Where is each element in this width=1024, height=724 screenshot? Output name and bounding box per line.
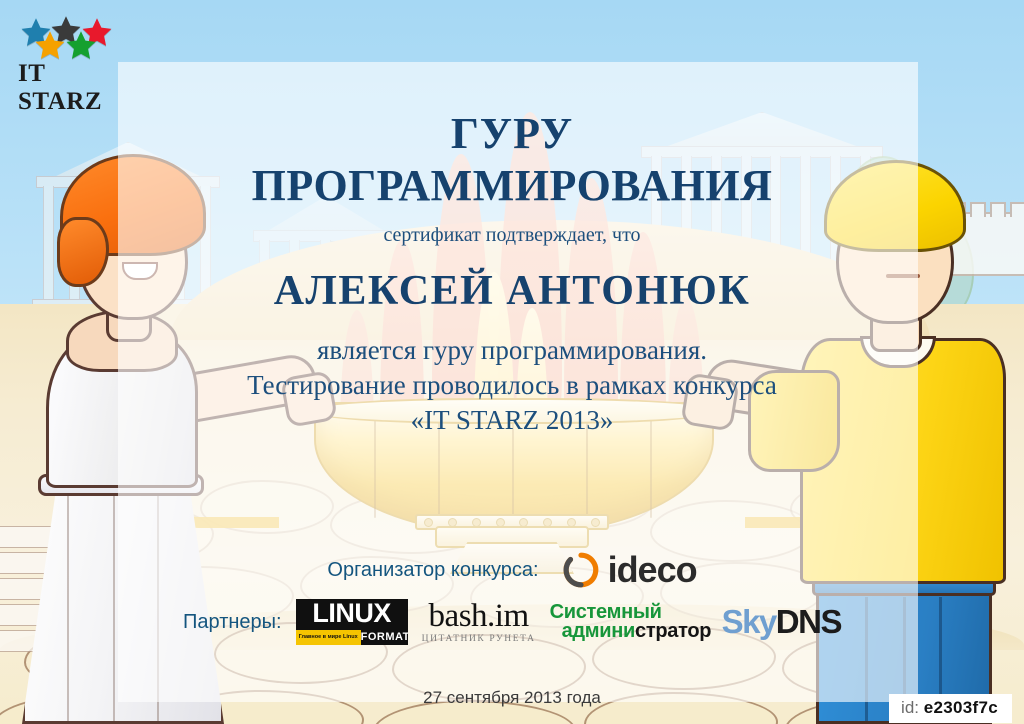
ideco-wordmark: ideco [608, 549, 697, 591]
partners-label: Партнеры: [183, 611, 282, 634]
recipient-name: АЛЕКСЕЙ АНТОНЮК [0, 267, 1024, 315]
body-line-2: Тестирование проводилось в рамках конкур… [0, 368, 1024, 403]
body-line-1: является гуру программирования. [0, 333, 1024, 368]
certificate-subtitle: сертификат подтверждает, что [0, 224, 1024, 247]
linux-format-line2: FORMAT [361, 630, 408, 645]
linux-format-line1: LINUX [296, 599, 408, 628]
certificate-title-line2: ПРОГРАММИРОВАНИЯ [0, 160, 1024, 211]
partner-logo-sysadmin[interactable]: Системный администратор [550, 601, 708, 643]
certificate-content: ГУРУ ПРОГРАММИРОВАНИЯ сертификат подтвер… [0, 0, 1024, 724]
partner-logo-linux-format[interactable]: LINUX Главное в мире Linux FORMAT [296, 599, 408, 645]
linux-format-strapline: Главное в мире Linux [296, 630, 361, 645]
certificate-id-badge: id: e2303f7c [889, 694, 1012, 723]
bash-im-line2: ЦИТАТНИК РУНЕТА [422, 635, 536, 645]
partner-logo-skydns[interactable]: SkyDNS [722, 603, 841, 641]
organizer-row: Организатор конкурса: ideco [0, 548, 1024, 592]
sysadmin-line2-dark: стратор [635, 620, 711, 642]
ideco-logo[interactable]: ideco [563, 549, 697, 591]
organizer-label: Организатор конкурса: [327, 559, 538, 582]
body-line-3: «IT STARZ 2013» [0, 403, 1024, 438]
skydns-part2: DNS [776, 603, 841, 640]
sysadmin-line2-green: админи [562, 620, 635, 642]
skydns-part1: Sky [722, 603, 776, 640]
id-value: e2303f7c [924, 698, 998, 717]
partners-row: Партнеры: LINUX Главное в мире Linux FOR… [0, 598, 1024, 646]
certificate-canvas: IT STARZ ГУРУ ПРОГРАММИРОВАНИЯ сертифика… [0, 0, 1024, 724]
partner-logo-bash-im[interactable]: bash.im ЦИТАТНИК РУНЕТА [422, 600, 536, 645]
certificate-body: является гуру программирования. Тестиров… [0, 333, 1024, 438]
bash-im-line1: bash.im [429, 600, 529, 633]
ideco-ring-icon [563, 552, 599, 588]
certificate-title-line1: ГУРУ [0, 108, 1024, 159]
certificate-date: 27 сентября 2013 года [0, 688, 1024, 708]
id-label: id: [901, 698, 919, 717]
